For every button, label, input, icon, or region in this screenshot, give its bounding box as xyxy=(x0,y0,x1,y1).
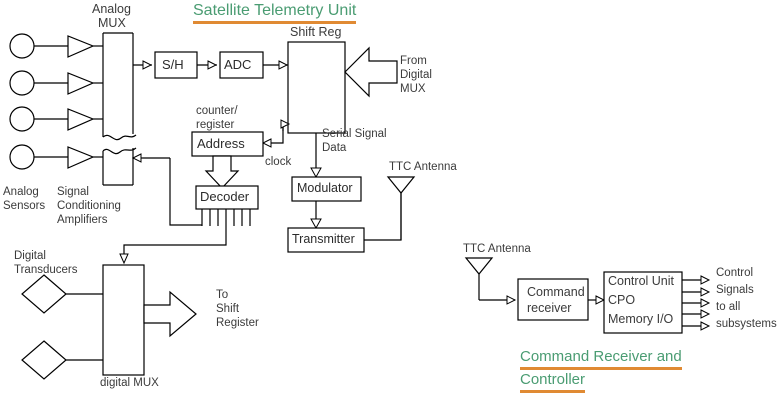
section-title-command-line2: Controller xyxy=(520,370,585,393)
control-signals-label-line3: to all xyxy=(716,301,740,315)
address-to-decoder-arrow xyxy=(206,156,238,188)
shift-register-label: Shift Reg xyxy=(290,26,341,40)
wire-decoder-to-digital-mux xyxy=(120,226,226,263)
decoder-label: Decoder xyxy=(200,189,249,204)
page-title-telemetry-text: Satellite Telemetry Unit xyxy=(193,1,356,24)
control-signals-label-line2: Signals xyxy=(716,284,754,298)
digital-transducers-label-line1: Digital xyxy=(14,250,46,264)
from-digital-mux-label-line1: From xyxy=(400,55,427,69)
wire-shiftreg-to-modulator xyxy=(311,133,321,177)
section-title-command-line2-text: Controller xyxy=(520,370,585,393)
serial-signal-label-line1: Serial Signal xyxy=(322,128,387,142)
counter-register-label-line2: register xyxy=(196,119,234,133)
digital-transducers-label-line2: Transducers xyxy=(14,264,78,278)
control-unit-label-line1: Control Unit xyxy=(608,275,674,289)
control-signal-outputs xyxy=(682,276,709,330)
amplifier-3 xyxy=(68,109,103,130)
to-shift-register-block-arrow xyxy=(144,292,196,336)
analog-mux-label-line1: Analog xyxy=(92,3,131,17)
analog-sensor-1 xyxy=(10,34,68,58)
analog-sensor-3 xyxy=(10,107,68,131)
amplifiers-label-line2: Conditioning xyxy=(57,200,121,214)
to-shift-register-label-line1: To xyxy=(216,289,228,303)
address-label: Address xyxy=(197,136,245,151)
analog-sensor-4 xyxy=(10,145,68,169)
from-digital-mux-block-arrow xyxy=(345,48,397,96)
page-title-telemetry: Satellite Telemetry Unit xyxy=(193,1,356,24)
from-digital-mux-label-line2: Digital xyxy=(400,69,432,83)
amplifiers-label-line1: Signal xyxy=(57,186,89,200)
sample-hold-label: S/H xyxy=(162,57,184,72)
clock-label: clock xyxy=(265,156,291,170)
digital-transducer-2 xyxy=(22,341,103,379)
control-signals-label-line4: subsystems xyxy=(716,318,777,332)
analog-sensors-label-line1: Analog xyxy=(3,186,39,200)
wire-transmitter-to-antenna xyxy=(364,193,401,240)
digital-mux-box xyxy=(103,265,144,375)
command-receiver-label-line1: Command xyxy=(527,286,585,300)
transmitter-label: Transmitter xyxy=(292,232,355,247)
counter-register-label-line1: counter/ xyxy=(196,105,238,119)
digital-transducer-1 xyxy=(22,275,103,313)
diagram-canvas: Satellite Telemetry Unit Command Receive… xyxy=(0,0,784,408)
wire-receiver-to-controlunit xyxy=(588,296,604,304)
analog-mux-box xyxy=(103,33,136,185)
wire-clock xyxy=(263,120,289,147)
adc-label: ADC xyxy=(224,57,251,72)
control-unit-label-line2: CPO xyxy=(608,294,635,308)
section-title-command-line1: Command Receiver and xyxy=(520,347,682,370)
wire-decoder-to-analog-mux xyxy=(133,154,202,225)
wire-modulator-to-transmitter xyxy=(311,201,321,228)
control-unit-label-line3: Memory I/O xyxy=(608,313,673,327)
ttc-antenna-telemetry-icon xyxy=(388,177,414,240)
decoder-output-pins xyxy=(202,209,250,226)
serial-signal-label-line2: Data xyxy=(322,142,346,156)
amplifiers-label-line3: Amplifiers xyxy=(57,214,107,228)
ttc-antenna-command-icon xyxy=(466,258,515,304)
control-signals-label-line1: Control xyxy=(716,267,753,281)
analog-sensor-2 xyxy=(10,71,68,95)
command-receiver-label-line2: receiver xyxy=(527,302,571,316)
analog-sensors-label-line2: Sensors xyxy=(3,200,45,214)
shift-register-box xyxy=(288,42,345,133)
digital-mux-label: digital MUX xyxy=(100,377,159,391)
ttc-antenna-command-label: TTC Antenna xyxy=(463,243,531,257)
amplifier-4 xyxy=(68,147,103,168)
to-shift-register-label-line3: Register xyxy=(216,317,259,331)
amplifier-2 xyxy=(68,73,103,94)
modulator-label: Modulator xyxy=(297,181,353,196)
analog-mux-label-line2: MUX xyxy=(98,17,126,31)
section-title-command-line1-text: Command Receiver and xyxy=(520,347,682,370)
amplifier-1 xyxy=(68,36,103,57)
ttc-antenna-telemetry-label: TTC Antenna xyxy=(389,161,457,175)
from-digital-mux-label-line3: MUX xyxy=(400,83,426,97)
to-shift-register-label-line2: Shift xyxy=(216,303,239,317)
